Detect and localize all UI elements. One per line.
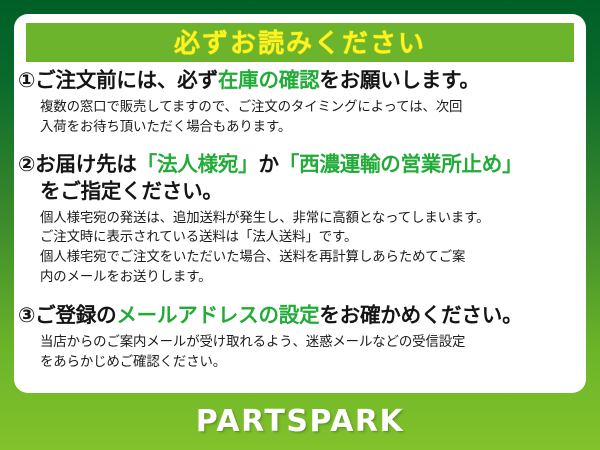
item-3-number: ③: [18, 304, 35, 327]
notice-item-1: ①ご注文前には、必ず在庫の確認をお願いします。 複数の窓口で販売してますので、ご…: [14, 68, 586, 136]
notice-banner-image: 必ずお読みください ①ご注文前には、必ず在庫の確認をお願いします。 複数の窓口で…: [0, 0, 600, 450]
banner-title: 必ずお読みください: [174, 30, 426, 56]
brand-logo: PARTSPARK: [196, 404, 405, 439]
item-1-head-part-0: ご注文前には、必ず: [35, 69, 218, 92]
item-3-body-line-2: をあらかじめご確認ください。: [40, 352, 580, 372]
item-1-head-highlight: 在庫の確認: [218, 69, 320, 92]
footer: PARTSPARK: [0, 393, 600, 450]
notice-item-2: ②お届け先は「法人様宛」か「西濃運輸の営業所止め」 をご指定ください。 個人様宅…: [14, 152, 586, 286]
item-2-body-line-4: 内のメールをお送りします。: [40, 267, 580, 287]
notice-item-2-heading: ②お届け先は「法人様宛」か「西濃運輸の営業所止め」: [18, 152, 580, 178]
item-2-body-line-2: ご注文時に表示されている送料は「法人送料」です。: [40, 227, 580, 247]
item-2-head-part-0: お届け先は: [35, 153, 137, 176]
notice-item-3: ③ご登録のメールアドレスの設定をお確かめください。 当店からのご案内メールが受け…: [14, 303, 586, 371]
notice-list: ①ご注文前には、必ず在庫の確認をお願いします。 複数の窓口で販売してますので、ご…: [14, 68, 586, 371]
notice-item-2-heading-line2: をご指定ください。: [18, 179, 580, 205]
notice-item-2-body: 個人様宅宛の発送は、追加送料が発生し、非常に高額となってしまいます。 ご注文時に…: [18, 208, 580, 286]
item-2-body-line-1: 個人様宅宛の発送は、追加送料が発生し、非常に高額となってしまいます。: [40, 208, 580, 228]
item-3-head-part-0: ご登録の: [35, 304, 116, 327]
notice-item-1-body: 複数の窓口で販売してますので、ご注文のタイミングによっては、次回 入荷をお待ち頂…: [18, 97, 580, 136]
item-3-body-line-1: 当店からのご案内メールが受け取れるよう、迷惑メールなどの受信設定: [40, 332, 580, 352]
notice-item-3-heading: ③ご登録のメールアドレスの設定をお確かめください。: [18, 303, 580, 329]
item-3-head-part-2: をお確かめください。: [319, 304, 522, 327]
notice-card: 必ずお読みください ①ご注文前には、必ず在庫の確認をお願いします。 複数の窓口で…: [14, 14, 586, 393]
notice-item-1-heading: ①ご注文前には、必ず在庫の確認をお願いします。: [18, 68, 580, 94]
item-2-head-highlight-2: 「西濃運輸の営業所止め」: [279, 153, 523, 176]
item-2-number: ②: [18, 153, 35, 176]
item-1-body-line-2: 入荷をお待ち頂いただく場合もあります。: [40, 117, 580, 137]
item-3-head-highlight: メールアドレスの設定: [116, 304, 319, 327]
item-2-body-line-3: 個人様宅宛でご注文をいただいた場合、送料を再計算しあらためてご案: [40, 247, 580, 267]
item-1-head-part-2: をお願いします。: [319, 69, 479, 92]
item-1-body-line-1: 複数の窓口で販売してますので、ご注文のタイミングによっては、次回: [40, 97, 580, 117]
item-2-head-highlight-1: 「法人様宛」: [137, 153, 259, 176]
item-1-number: ①: [18, 69, 35, 92]
notice-item-3-body: 当店からのご案内メールが受け取れるよう、迷惑メールなどの受信設定 をあらかじめご…: [18, 332, 580, 371]
item-2-head-part-2: か: [258, 153, 278, 176]
header-banner: 必ずお読みください: [26, 23, 574, 62]
